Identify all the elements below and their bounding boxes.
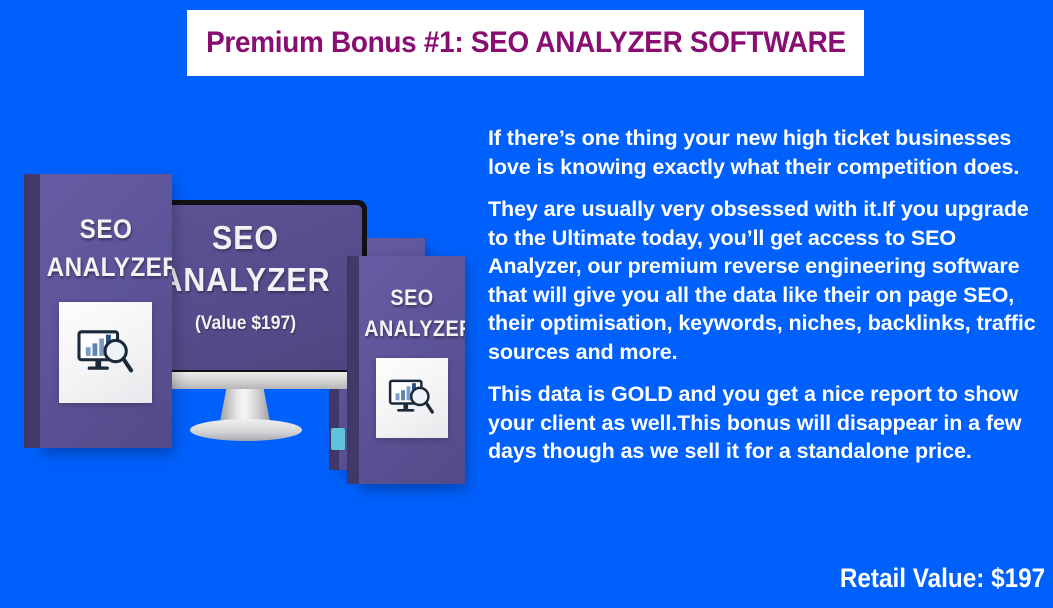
right-front-box: SEO ANALYZER (347, 256, 465, 484)
right-front-box-title-line1: SEO (364, 282, 459, 313)
content-stage: SEO ANALYZER (Value $197) SEO ANALYZER (0, 86, 1053, 608)
right-front-box-face: SEO ANALYZER (359, 256, 465, 484)
left-box-face: SEO ANALYZER (40, 174, 172, 448)
product-mockup: SEO ANALYZER (Value $197) SEO ANALYZER (0, 86, 480, 556)
monitor-stand-base (190, 419, 302, 441)
page-title: Premium Bonus #1: SEO ANALYZER SOFTWARE (206, 26, 846, 60)
copy-paragraph-3: This data is GOLD and you get a nice rep… (488, 380, 1048, 466)
left-box-title: SEO ANALYZER (47, 210, 166, 286)
bonus-title-bar: Premium Bonus #1: SEO ANALYZER SOFTWARE (187, 10, 864, 76)
left-box: SEO ANALYZER (24, 174, 172, 448)
copy-paragraph-1: If there’s one thing your new high ticke… (488, 124, 1048, 181)
left-box-panel (59, 302, 152, 403)
right-front-box-title-line2: ANALYZER (364, 313, 459, 344)
seo-analyzer-icon (75, 326, 137, 380)
right-front-box-title: SEO ANALYZER (364, 282, 459, 344)
copy-paragraph-2: They are usually very obsessed with it.I… (488, 195, 1048, 366)
retail-value-label: Retail Value: $197 (840, 563, 1045, 594)
right-front-box-panel (376, 358, 448, 438)
seo-analyzer-icon (387, 376, 437, 420)
bookmark-tab-icon (331, 428, 345, 450)
sales-copy: If there’s one thing your new high ticke… (488, 124, 1048, 480)
left-box-title-line2: ANALYZER (47, 248, 166, 286)
left-box-title-line1: SEO (47, 210, 166, 248)
